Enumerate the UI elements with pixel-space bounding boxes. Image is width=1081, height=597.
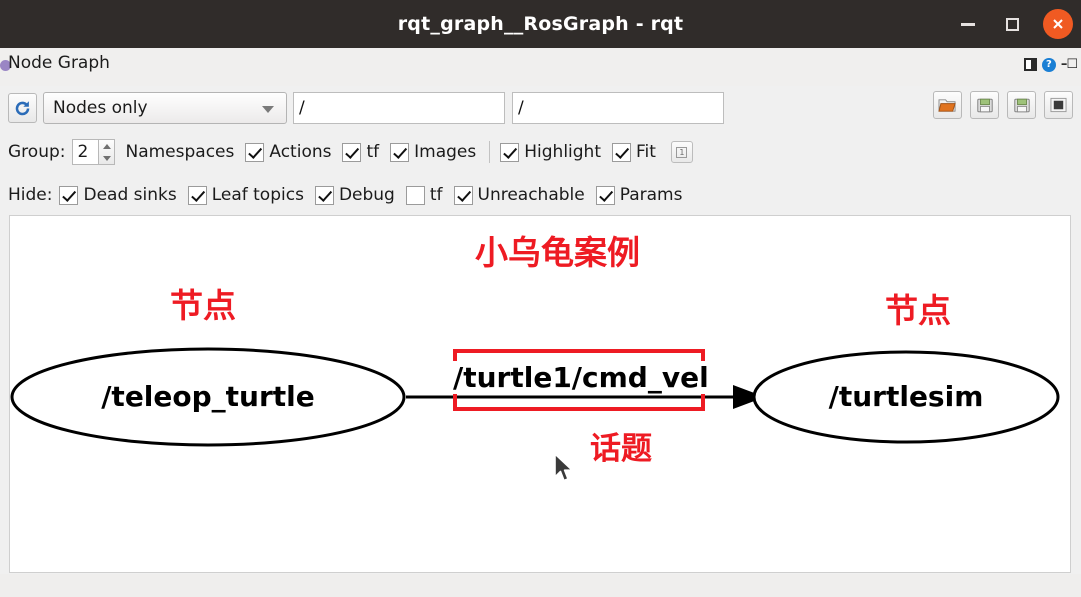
refresh-icon [14,100,31,117]
checkbox-hide-tf[interactable]: tf [406,185,443,205]
checkbox-unreachable-box[interactable] [454,186,473,205]
group-spinbox[interactable]: 2 [72,139,115,165]
checkbox-tf-options-box[interactable] [342,143,361,162]
checkbox-images-label: Images [414,142,476,162]
checkbox-images[interactable]: Images [390,142,476,162]
chevron-down-icon [262,106,274,113]
checkbox-actions-box[interactable] [245,143,264,162]
checkbox-debug-label: Debug [339,185,395,205]
namespace-filter-value: / [299,98,305,118]
checkbox-hide-tf-box[interactable] [406,186,425,205]
spin-up-icon[interactable] [103,144,111,149]
checkbox-fit[interactable]: Fit [612,142,656,162]
close-icon [1050,16,1066,32]
save-dot-button[interactable] [970,91,999,119]
dock-widget-buttons: ? –☐ [1024,57,1077,72]
checkbox-images-box[interactable] [390,143,409,162]
group-label: Group: [8,142,65,162]
rqt-graph-window: rqt_graph__RosGraph - rqt Node Graph ? –… [0,0,1081,597]
checkbox-actions-label: Actions [269,142,331,162]
spin-down-icon[interactable] [103,156,111,161]
hide-label: Hide: [8,185,52,205]
checkbox-params-box[interactable] [596,186,615,205]
checkbox-leaf-topics-box[interactable] [188,186,207,205]
fit-in-view-icon: 1 [676,147,687,158]
load-dot-button[interactable] [933,91,962,119]
fit-view-button[interactable] [1044,91,1073,119]
fit-square-icon [1050,97,1067,113]
checkbox-params[interactable]: Params [596,185,683,205]
group-spin-buttons[interactable] [98,139,115,165]
dock-widget-header: Node Graph ? –☐ [0,48,1081,86]
graph-type-select[interactable]: Nodes only [43,92,287,124]
annotation-topic: 话题 [590,423,652,468]
maximize-icon [1006,18,1019,31]
checkbox-tf-options-label: tf [366,142,379,162]
checkbox-actions[interactable]: Actions [245,142,331,162]
checkbox-namespaces[interactable]: Namespaces [125,142,234,162]
dock-widget-title: Node Graph [8,53,110,73]
graph-node-turtlesim-label: /turtlesim [754,380,1058,413]
window-bottom-strip [0,574,1081,597]
checkbox-dead-sinks-box[interactable] [59,186,78,205]
checkbox-leaf-topics[interactable]: Leaf topics [188,185,304,205]
graph-type-value: Nodes only [53,98,148,118]
graph-options-row: Group: 2 Namespaces Actions tf Images Hi… [8,137,693,167]
topic-filter-input[interactable]: / [512,92,724,124]
window-titlebar: rqt_graph__RosGraph - rqt [0,0,1081,48]
checkbox-dead-sinks-label: Dead sinks [83,185,176,205]
toolbar-right-buttons [933,91,1073,119]
window-title: rqt_graph__RosGraph - rqt [398,13,684,35]
float-dock-icon[interactable] [1024,58,1037,71]
checkbox-dead-sinks[interactable]: Dead sinks [59,185,176,205]
checkbox-unreachable-label: Unreachable [478,185,585,205]
options-separator [489,141,490,163]
ros-graph-canvas[interactable]: /teleop_turtle /turtlesim /turtle1/cmd_v… [9,215,1071,573]
topic-filter-value: / [518,98,524,118]
graph-hide-row: Hide: Dead sinks Leaf topics Debug tf Un… [8,180,693,210]
group-value[interactable]: 2 [72,139,98,165]
checkbox-unreachable[interactable]: Unreachable [454,185,585,205]
checkbox-leaf-topics-label: Leaf topics [212,185,304,205]
maximize-button[interactable] [999,11,1025,37]
checkbox-hide-tf-label: tf [430,185,443,205]
checkbox-highlight-label: Highlight [524,142,601,162]
minimize-button[interactable] [955,11,981,37]
graph-topic-cmd-vel-label[interactable]: /turtle1/cmd_vel [453,361,705,394]
namespace-filter-input[interactable]: / [293,92,505,124]
save-image-icon [1013,97,1031,114]
fit-in-view-button[interactable]: 1 [671,141,693,163]
checkbox-params-label: Params [620,185,683,205]
save-disk-icon [976,97,994,114]
graph-node-teleop-turtle-label: /teleop_turtle [12,380,404,413]
checkbox-namespaces-label: Namespaces [125,142,234,162]
checkbox-debug[interactable]: Debug [315,185,395,205]
annotation-node-left: 节点 [170,279,236,327]
checkbox-debug-box[interactable] [315,186,334,205]
checkbox-fit-box[interactable] [612,143,631,162]
checkbox-highlight-box[interactable] [500,143,519,162]
checkbox-tf-options[interactable]: tf [342,142,379,162]
refresh-button[interactable] [8,93,37,123]
checkbox-fit-label: Fit [636,142,656,162]
annotation-node-right: 节点 [885,284,951,332]
minimize-icon [961,23,975,26]
save-image-button[interactable] [1007,91,1036,119]
window-controls [955,0,1073,48]
help-icon[interactable]: ? [1042,58,1056,72]
annotation-title: 小乌龟案例 [475,226,640,274]
checkbox-highlight[interactable]: Highlight [500,142,601,162]
close-dock-icon[interactable]: –☐ [1061,57,1077,72]
graph-toolbar: Nodes only / / [0,90,1081,130]
folder-open-icon [938,97,957,114]
close-button[interactable] [1043,9,1073,39]
mouse-cursor-icon [553,453,575,485]
